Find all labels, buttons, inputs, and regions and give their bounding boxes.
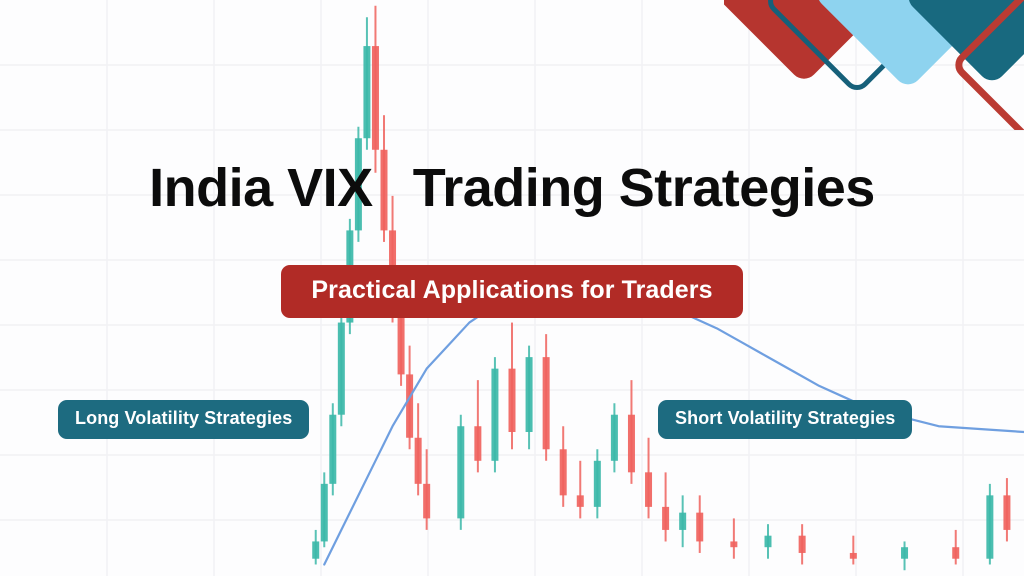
page-title: India VIXTrading Strategies: [0, 160, 1024, 217]
poster-canvas: India VIXTrading Strategies Practical Ap…: [0, 0, 1024, 576]
short-volatility-strategies-badge: Short Volatility Strategies: [658, 400, 912, 439]
subtitle-badge: Practical Applications for Traders: [281, 265, 742, 318]
title-part-two: Trading Strategies: [413, 158, 875, 218]
subtitle-container: Practical Applications for Traders: [0, 265, 1024, 318]
long-volatility-strategies-badge: Long Volatility Strategies: [58, 400, 309, 439]
poster-content: India VIXTrading Strategies Practical Ap…: [0, 0, 1024, 576]
title-part-one: India VIX: [149, 158, 373, 218]
